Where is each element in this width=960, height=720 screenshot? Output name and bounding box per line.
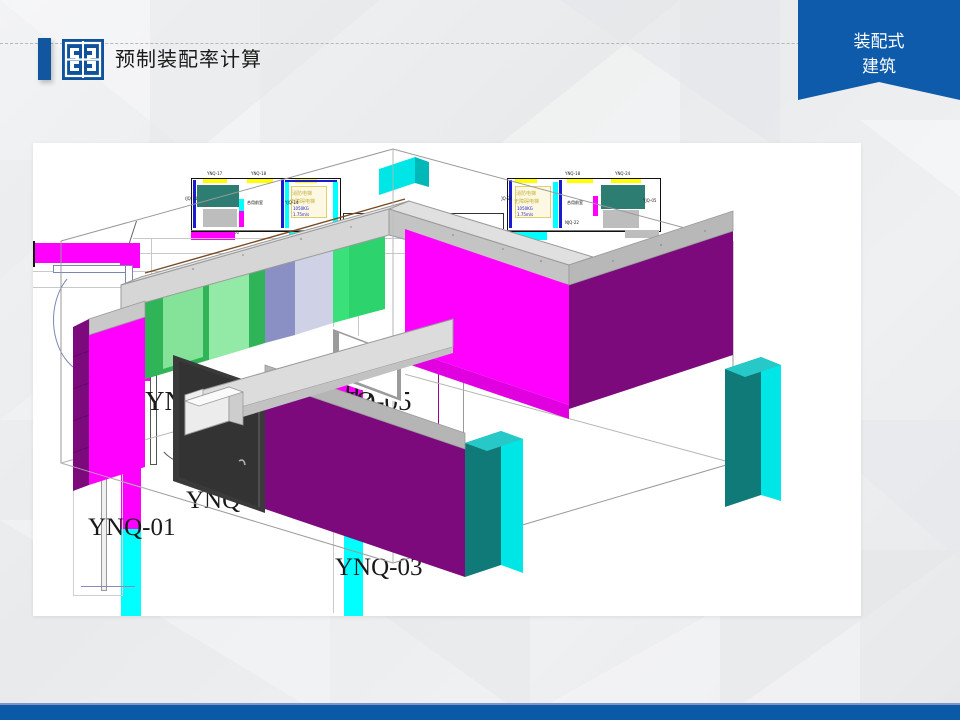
plan-right-spec-2: 1.75m/s — [517, 212, 533, 217]
plan-right-tag-4: NJQ-22 — [565, 220, 579, 225]
window-sill — [81, 586, 135, 587]
slide-root: 预制装配率计算 装配式 建筑 合用前室 消防电梯 无障 — [0, 0, 960, 720]
window-handle — [99, 459, 110, 468]
banner-line-2: 建筑 — [798, 55, 960, 80]
footer-bar — [0, 705, 960, 720]
lattice-window-logo-icon — [62, 39, 104, 80]
header-accent-bar — [38, 38, 51, 80]
plan-right-elevator-1: 消防电梯 — [516, 190, 536, 197]
plan-right-tag-1: YNQ-24 — [615, 171, 630, 176]
label-ynq-04: YNQ-04 — [145, 386, 240, 417]
wall-ynq-01 — [121, 369, 141, 529]
plan-right-spec-1: 1050KG — [517, 206, 533, 211]
leader-line-ynq04 — [129, 221, 137, 244]
content-panel: 合用前室 消防电梯 无障碍电梯 1050KG 1.75m/s YNQ-17 YN… — [33, 143, 861, 616]
plan-right-tag-3: YJQ-05 — [643, 198, 656, 203]
plan-right-tag-2: YJQ-24 — [501, 196, 512, 201]
label-ynq-01: YNQ-01 — [88, 514, 176, 542]
wall-njq-03 — [121, 529, 141, 616]
plan-connector-tick-right — [503, 213, 504, 229]
plan-right-elevator-2: 无障碍电梯 — [514, 198, 539, 205]
plan-right-tag-0: YNQ-18 — [565, 171, 580, 176]
wall-njq-05 — [331, 228, 359, 263]
wall-end-cap — [33, 241, 35, 267]
plan-detail-right: 合用前室 消防电梯 无障碍电梯 1050KG 1.75m/s YNQ-18 YN… — [501, 168, 667, 240]
label-ynq-02: YNQ-02(100) — [186, 487, 328, 515]
label-njq-05: NJQ-05 — [326, 386, 412, 417]
banner-line-1: 装配式 — [798, 30, 960, 55]
page-title: 预制装配率计算 — [115, 43, 262, 72]
door-swing-arc-1 — [53, 265, 133, 375]
plan-right-room-label: 合用前室 — [567, 200, 583, 206]
wall-ynq-05 — [276, 243, 331, 263]
floor-plan: YNQ-04 YNQ-05 NJQ-05 YNQ-02(100) YNQ-01 … — [33, 143, 463, 616]
label-ynq-03: YNQ-03 — [335, 554, 423, 582]
